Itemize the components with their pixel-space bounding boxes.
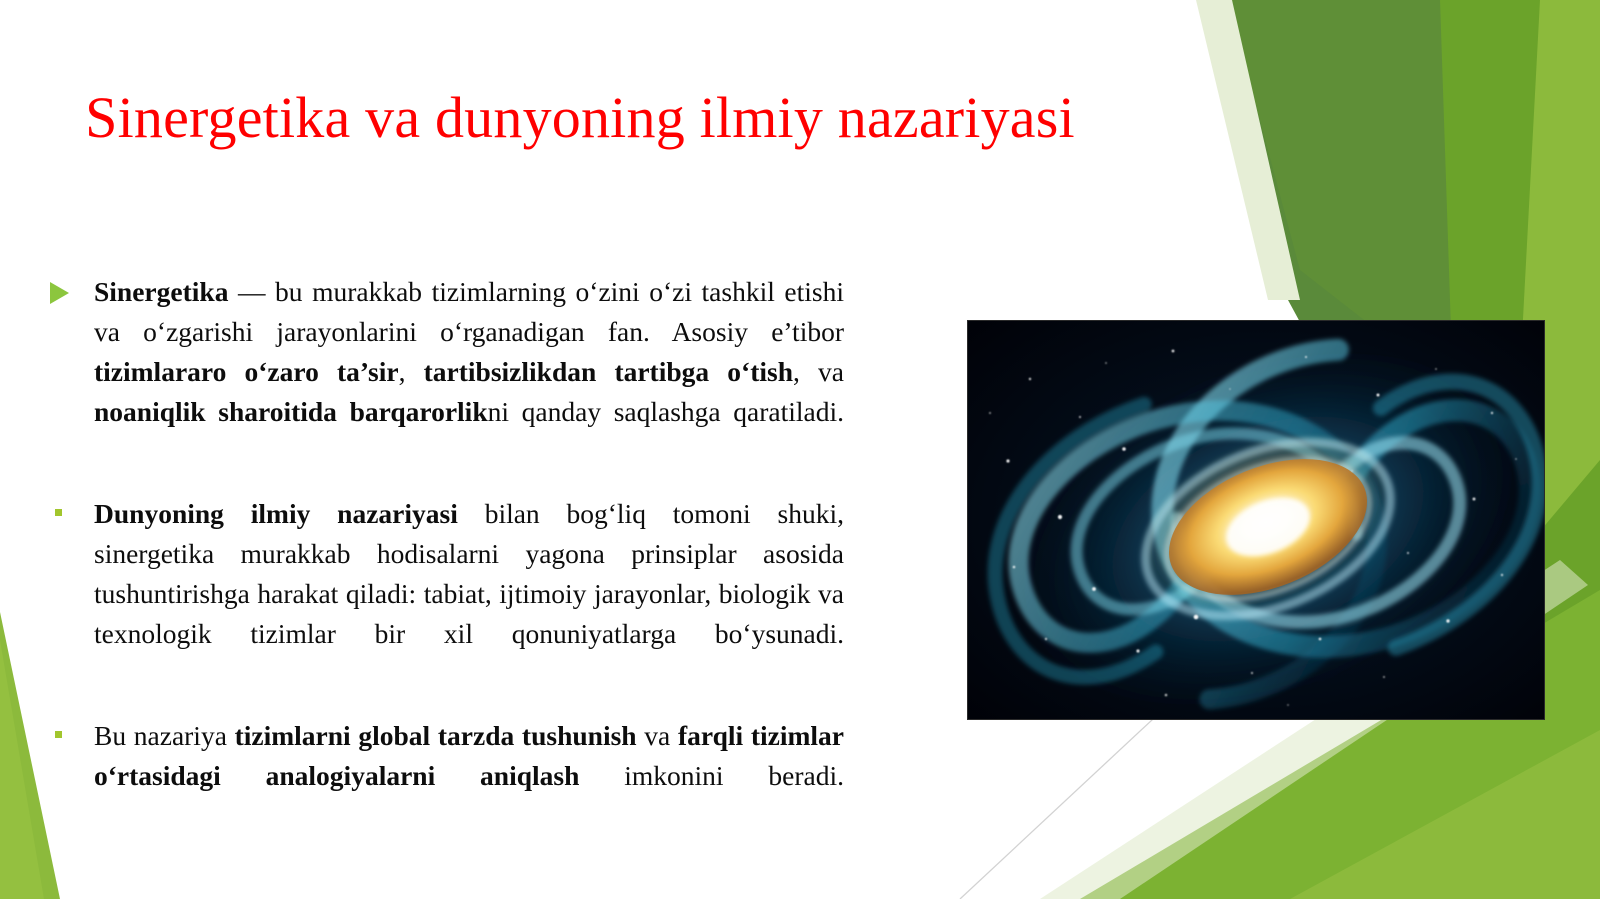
plain-text: , va bbox=[793, 356, 844, 387]
plain-text: imkonini beradi. bbox=[579, 760, 844, 791]
list-item: Bu nazariya tizimlarni global tarzda tus… bbox=[44, 716, 844, 836]
plain-text: va bbox=[637, 720, 678, 751]
galaxy-illustration bbox=[968, 321, 1544, 719]
spiral-galaxy-image bbox=[968, 321, 1544, 719]
emphasis-text: tartibsizlikdan tartibga o‘tish bbox=[424, 356, 793, 387]
dot-bullet-icon bbox=[50, 716, 80, 748]
list-item-text: Bu nazariya tizimlarni global tarzda tus… bbox=[94, 716, 844, 836]
emphasis-text: tizimlarni global tarzda tushunish bbox=[235, 720, 637, 751]
bullet-list: Sinergetika — bu murakkab tizimlarning o… bbox=[44, 272, 844, 836]
list-item: Dunyoning ilmiy nazariyasi bilan bog‘liq… bbox=[44, 494, 844, 694]
emphasis-text: Sinergetika bbox=[94, 276, 228, 307]
page-title: Sinergetika va dunyoning ilmiy nazariyas… bbox=[0, 86, 1160, 151]
plain-text: , bbox=[399, 356, 424, 387]
emphasis-text: Dunyoning ilmiy nazariyasi bbox=[94, 498, 458, 529]
list-item: Sinergetika — bu murakkab tizimlarning o… bbox=[44, 272, 844, 472]
presentation-slide: Sinergetika va dunyoning ilmiy nazariyas… bbox=[0, 0, 1600, 899]
plain-text: Bu nazariya bbox=[94, 720, 235, 751]
emphasis-text: tizimlararo o‘zaro ta’sir bbox=[94, 356, 399, 387]
plain-text: ni qanday saqlashga qaratiladi. bbox=[488, 396, 844, 427]
list-item-text: Sinergetika — bu murakkab tizimlarning o… bbox=[94, 272, 844, 472]
triangle-bullet-icon bbox=[50, 272, 80, 304]
emphasis-text: noaniqlik sharoitida barqarorlik bbox=[94, 396, 488, 427]
list-item-text: Dunyoning ilmiy nazariyasi bilan bog‘liq… bbox=[94, 494, 844, 694]
dot-bullet-icon bbox=[50, 494, 80, 526]
